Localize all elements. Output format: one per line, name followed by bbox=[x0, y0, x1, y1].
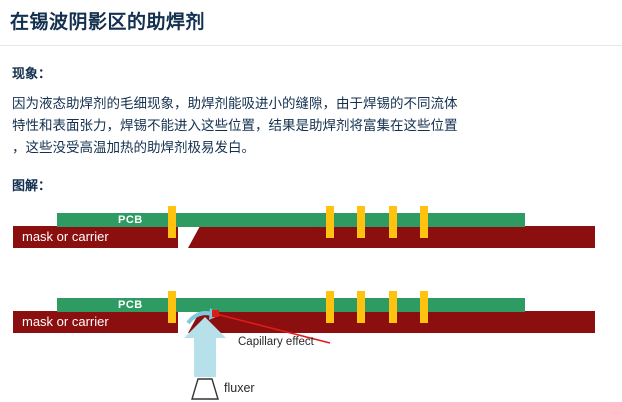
body-line-2: 特性和表面张力，焊锡不能进入这些位置，结果是助焊剂将富集在这些位置 bbox=[12, 115, 616, 137]
mask-label: mask or carrier bbox=[22, 314, 109, 329]
diagram-two: PCB mask or carrier Capillary effect flu… bbox=[0, 285, 622, 402]
capillary-marker bbox=[212, 310, 219, 317]
pin bbox=[420, 206, 428, 238]
page-title: 在锡波阴影区的助焊剂 bbox=[10, 7, 205, 34]
pcb-label: PCB bbox=[118, 299, 143, 311]
fluxer-nozzle-icon bbox=[192, 379, 218, 399]
mask-label: mask or carrier bbox=[22, 229, 109, 244]
body-line-1: 因为液态助焊剂的毛细现象，助焊剂能吸进小的缝隙，由于焊锡的不同流体 bbox=[12, 93, 616, 115]
pin bbox=[168, 206, 176, 238]
pin bbox=[326, 291, 334, 323]
pin bbox=[389, 206, 397, 238]
diagram-one: PCB mask or carrier bbox=[0, 200, 622, 268]
pcb-label: PCB bbox=[118, 214, 143, 226]
title-divider bbox=[0, 45, 622, 46]
section-label-diagram: 图解： bbox=[12, 175, 51, 194]
pin bbox=[420, 291, 428, 323]
pin bbox=[389, 291, 397, 323]
pin bbox=[357, 206, 365, 238]
body-line-3: ，这些没受高温加热的助焊剂极易发白。 bbox=[12, 137, 616, 159]
capillary-effect-label: Capillary effect bbox=[238, 336, 314, 348]
pin bbox=[168, 291, 176, 323]
fluxer-label: fluxer bbox=[224, 381, 255, 395]
pin bbox=[357, 291, 365, 323]
pin bbox=[326, 206, 334, 238]
page-root: 在锡波阴影区的助焊剂 现象： 因为液态助焊剂的毛细现象，助焊剂能吸进小的缝隙，由… bbox=[0, 0, 622, 402]
body-paragraph: 因为液态助焊剂的毛细现象，助焊剂能吸进小的缝隙，由于焊锡的不同流体 特性和表面张… bbox=[12, 93, 616, 159]
section-label-phenomenon: 现象： bbox=[12, 63, 51, 82]
mask-block-center bbox=[188, 226, 320, 248]
